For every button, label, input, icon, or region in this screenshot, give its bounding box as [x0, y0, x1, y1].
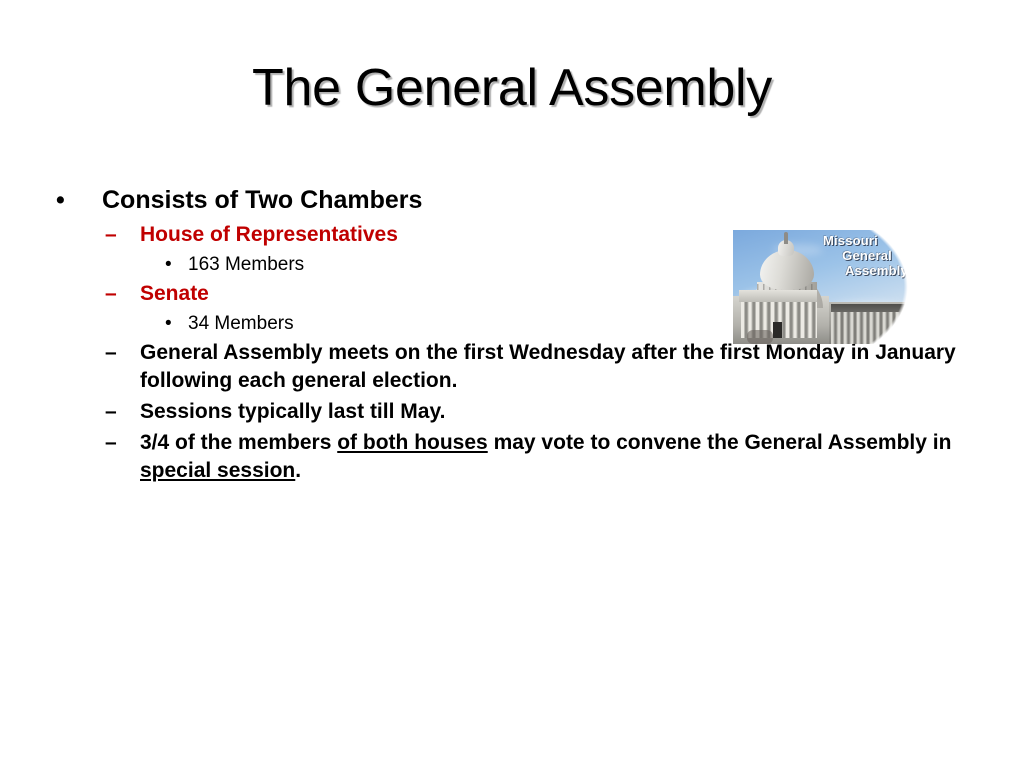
bullet-dash-icon: – [105, 339, 117, 367]
special-session-text-part1: 3/4 of the members [140, 431, 337, 454]
page-title: The General Assembly [0, 58, 1024, 118]
bullet-dash-icon: – [105, 429, 117, 457]
bullet-session-start-date: – General Assembly meets on the first We… [56, 339, 986, 395]
bullet-dash-icon: – [105, 398, 117, 426]
missouri-capitol-image-content: Missouri General Assembly [733, 230, 912, 344]
slide-canvas: The General Assembly • Consists of Two C… [0, 0, 1024, 768]
image-overlay-line-3: Assembly [773, 263, 908, 278]
bullet-dash-icon: – [105, 221, 117, 249]
capitol-right-colonnade [831, 312, 912, 344]
bullet-session-length: – Sessions typically last till May. [56, 398, 986, 426]
bullet-session-length-label: Sessions typically last till May. [140, 398, 986, 426]
capitol-foreground-shrub [747, 330, 773, 344]
bullet-dot-icon: • [165, 252, 172, 278]
missouri-capitol-image: Missouri General Assembly [733, 230, 912, 344]
special-session-text-part2: may vote to convene the General Assembly… [488, 431, 952, 454]
bullet-dot-icon: • [165, 311, 172, 337]
bullet-level1-label: Consists of Two Chambers [102, 185, 986, 216]
bullet-session-start-date-label: General Assembly meets on the first Wedn… [140, 339, 986, 395]
image-overlay-caption: Missouri General Assembly [773, 233, 908, 278]
special-session-underline-of-both-houses: of both houses [337, 431, 488, 454]
special-session-text-part3: . [295, 459, 301, 482]
image-overlay-line-1: Missouri [773, 233, 908, 248]
capitol-entrance-doorway [773, 322, 782, 338]
bullet-dot-icon: • [56, 185, 65, 216]
special-session-underline-special-session: special session [140, 459, 295, 482]
bullet-dash-icon: – [105, 280, 117, 308]
image-overlay-line-2: General [773, 248, 908, 263]
capitol-pediment [739, 290, 817, 302]
bullet-special-session: – 3/4 of the members of both houses may … [56, 429, 986, 485]
bullet-level1-consists-of-two-chambers: • Consists of Two Chambers [56, 185, 986, 216]
bullet-special-session-label: 3/4 of the members of both houses may vo… [140, 429, 986, 485]
